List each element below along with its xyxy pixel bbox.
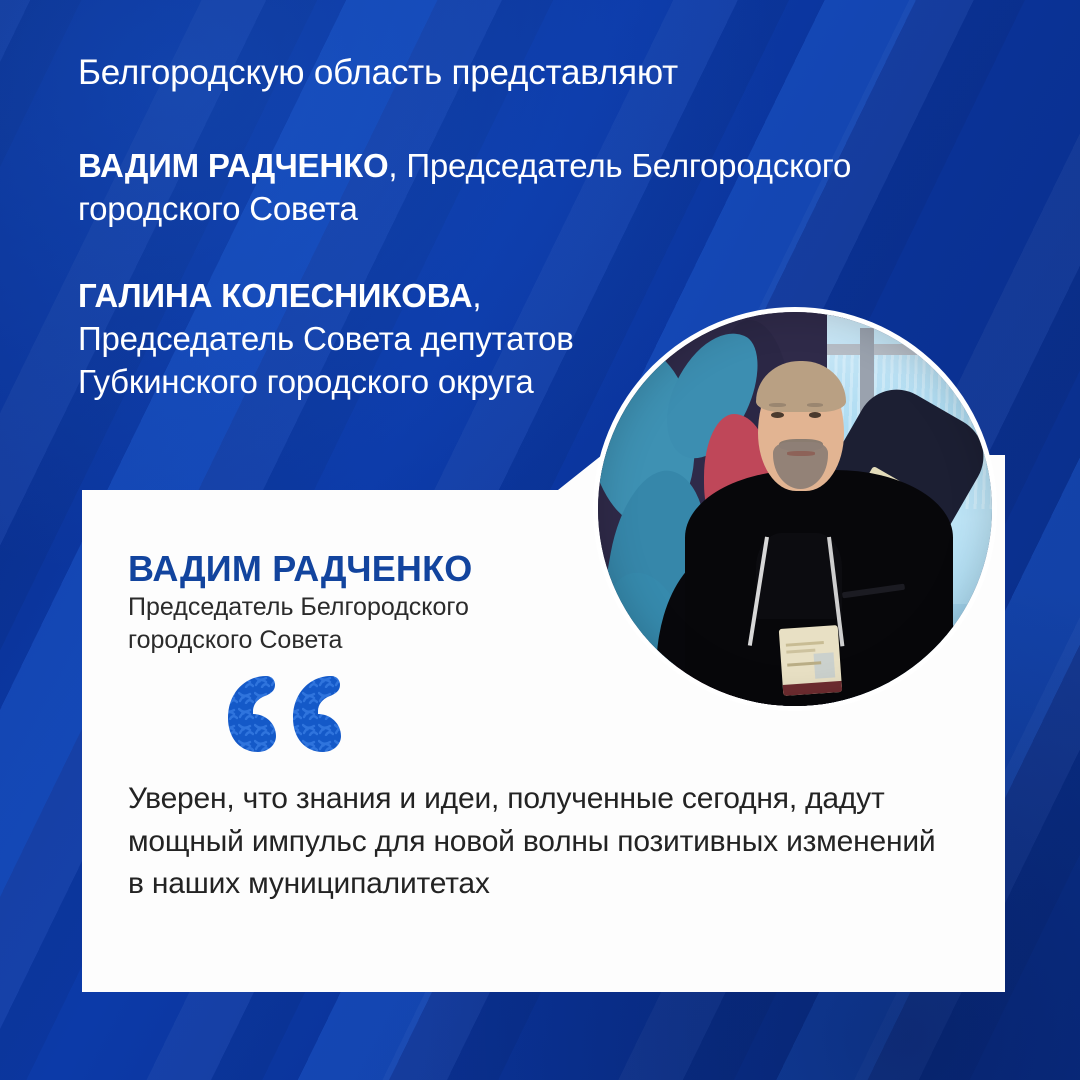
quote-card-name: ВАДИМ РАДЧЕНКО (128, 548, 472, 590)
window-top-pane (923, 312, 986, 347)
avatar (593, 307, 997, 711)
person-1-name: ВАДИМ РАДЧЕНКО (78, 147, 388, 184)
quote-text: Уверен, что знания и идеи, полученные се… (128, 778, 948, 906)
person-2-separator: , (472, 277, 481, 314)
person-2-name: ГАЛИНА КОЛЕСНИКОВА (78, 277, 472, 314)
quote-card-role: Председатель Белгородского городского Со… (128, 591, 598, 656)
portrait-photo (598, 312, 992, 706)
person-entry-1: ВАДИМ РАДЧЕНКО, Председатель Белгородско… (78, 145, 868, 231)
person-2-role: Председатель Совета депутатов Губкинског… (78, 320, 574, 400)
person-1-separator: , (388, 147, 406, 184)
photo-vignette (598, 312, 992, 706)
poster-canvas: Белгородскую область представляют ВАДИМ … (0, 0, 1080, 1080)
person-entry-2: ГАЛИНА КОЛЕСНИКОВА, Председатель Совета … (78, 275, 638, 404)
double-quote-open-icon (222, 672, 347, 752)
page-title: Белгородскую область представляют (78, 52, 938, 93)
